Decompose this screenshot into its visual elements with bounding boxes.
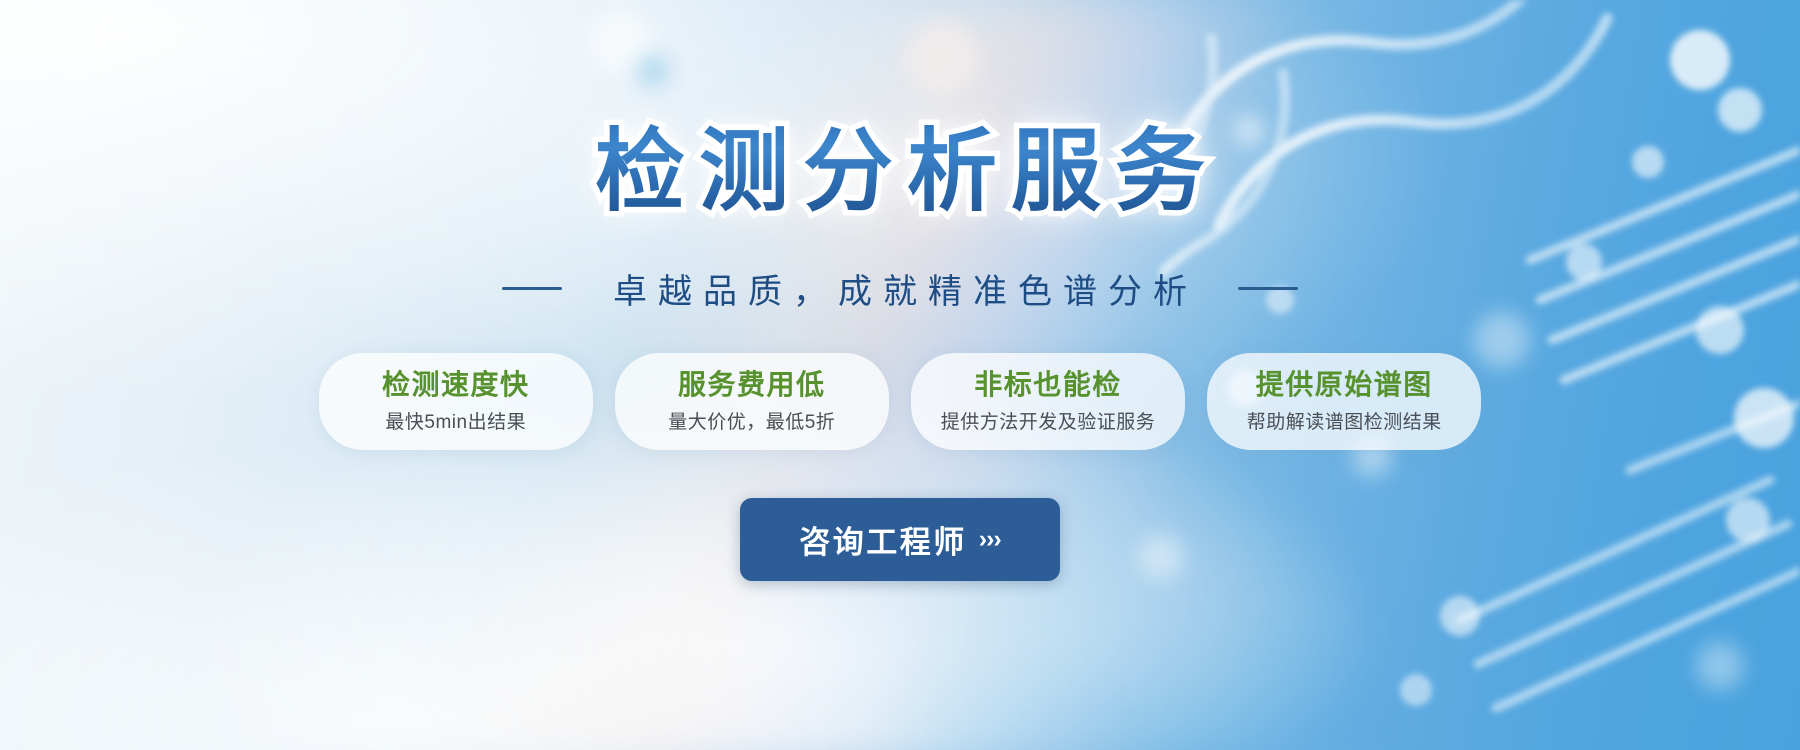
feature-pill-title: 服务费用低 <box>645 367 859 402</box>
promo-banner: 检测分析服务 检测分析服务 卓越品质，成就精准色谱分析 检测速度快 最快5min… <box>0 0 1800 750</box>
feature-pill-speed[interactable]: 检测速度快 最快5min出结果 <box>319 353 593 450</box>
consult-engineer-label: 咨询工程师 <box>799 517 967 562</box>
subtitle-row: 卓越品质，成就精准色谱分析 <box>502 264 1298 313</box>
feature-pill-subtitle: 帮助解读谱图检测结果 <box>1237 407 1451 434</box>
title-block: 检测分析服务 检测分析服务 <box>581 118 1219 226</box>
feature-pill-title: 非标也能检 <box>941 367 1156 402</box>
feature-pill-title: 检测速度快 <box>349 367 563 402</box>
feature-pill-nonstandard[interactable]: 非标也能检 提供方法开发及验证服务 <box>911 353 1186 450</box>
feature-pill-subtitle: 提供方法开发及验证服务 <box>941 407 1156 434</box>
page-title: 检测分析服务 <box>581 118 1219 226</box>
dash-left-icon <box>502 287 562 290</box>
feature-pill-subtitle: 量大价优，最低5折 <box>645 407 859 434</box>
feature-pill-list: 检测速度快 最快5min出结果 服务费用低 量大价优，最低5折 非标也能检 提供… <box>319 353 1482 450</box>
feature-pill-title: 提供原始谱图 <box>1237 367 1451 402</box>
feature-pill-price[interactable]: 服务费用低 量大价优，最低5折 <box>615 353 889 450</box>
feature-pill-raw-spectra[interactable]: 提供原始谱图 帮助解读谱图检测结果 <box>1207 353 1481 450</box>
banner-content: 检测分析服务 检测分析服务 卓越品质，成就精准色谱分析 检测速度快 最快5min… <box>0 0 1800 750</box>
consult-engineer-button[interactable]: 咨询工程师 ››› <box>740 498 1060 581</box>
page-subtitle: 卓越品质，成就精准色谱分析 <box>602 264 1198 313</box>
chevron-right-triple-icon: ››› <box>979 525 1001 554</box>
feature-pill-subtitle: 最快5min出结果 <box>349 407 563 434</box>
dash-right-icon <box>1238 287 1298 290</box>
